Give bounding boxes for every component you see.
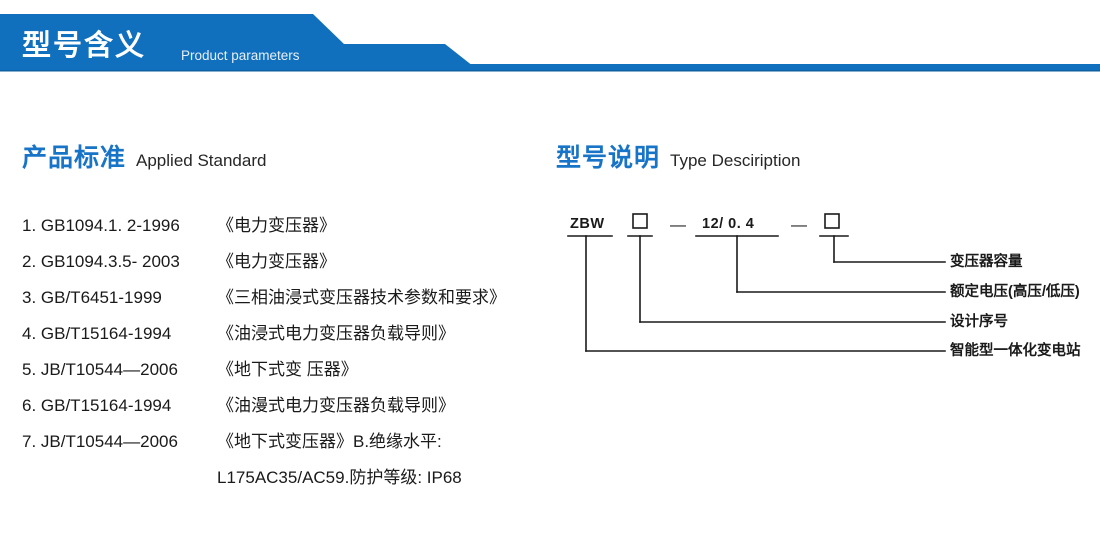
- leader-label-capacity: 变压器容量: [950, 255, 1023, 270]
- leader-label-rated-voltage: 额定电压(高压/低压): [950, 285, 1080, 300]
- section-heading-applied-standard-cn: 产品标准: [22, 144, 126, 172]
- standard-name: 《地下式变压器》B.绝缘水平:: [217, 427, 542, 452]
- standard-continuation-line: L175AC35/AC59.防护等级: IP68: [22, 463, 542, 499]
- page-root: 型号含义 Product parameters 产品标准Applied Stan…: [0, 0, 1100, 538]
- applied-standards-list: 1. GB1094.1. 2-1996 《电力变压器》 2. GB1094.3.…: [22, 211, 542, 499]
- section-heading-applied-standard-en: Applied Standard: [136, 151, 266, 170]
- section-heading-type-description-en: Type Desciription: [670, 151, 800, 170]
- standard-code: 7. JB/T10544—2006: [22, 432, 217, 452]
- standard-code: 3. GB/T6451-1999: [22, 288, 217, 308]
- standard-code: 4. GB/T15164-1994: [22, 324, 217, 344]
- standard-code: 5. JB/T10544—2006: [22, 360, 217, 380]
- type-designation-diagram: ZBW — 12/ 0. 4 — 变压器容量 额定电压(高压/低压) 设计序号 …: [556, 200, 1100, 375]
- leader-label-design-serial: 设计序号: [950, 315, 1008, 330]
- standard-row: 6. GB/T15164-1994 《油漫式电力变压器负载导则》: [22, 391, 542, 427]
- standard-row: 2. GB1094.3.5- 2003 《电力变压器》: [22, 247, 542, 283]
- type-token-dash-1: —: [670, 218, 686, 234]
- standard-name: 《油漫式电力变压器负载导则》: [217, 391, 542, 416]
- standard-name: 《电力变压器》: [217, 211, 542, 236]
- placeholder-box-design-serial: [633, 214, 647, 228]
- standard-code: 6. GB/T15164-1994: [22, 396, 217, 416]
- type-token-prefix: ZBW: [570, 217, 605, 232]
- standard-row: 7. JB/T10544—2006 《地下式变压器》B.绝缘水平:: [22, 427, 542, 463]
- section-heading-applied-standard: 产品标准Applied Standard: [22, 138, 266, 174]
- standard-row: 3. GB/T6451-1999 《三相油浸式变压器技术参数和要求》: [22, 283, 542, 319]
- banner-title-cn: 型号含义: [22, 32, 146, 61]
- section-heading-type-description-cn: 型号说明: [556, 144, 660, 172]
- standard-code: 2. GB1094.3.5- 2003: [22, 252, 217, 272]
- section-heading-type-description: 型号说明Type Desciription: [556, 138, 800, 174]
- placeholder-box-capacity: [825, 214, 839, 228]
- standard-code: 1. GB1094.1. 2-1996: [22, 216, 217, 236]
- leader-label-substation-type: 智能型一体化变电站: [950, 344, 1081, 359]
- page-header-banner: 型号含义 Product parameters: [0, 14, 1100, 72]
- standard-name: 《油浸式电力变压器负载导则》: [217, 319, 542, 344]
- standard-name: 《三相油浸式变压器技术参数和要求》: [217, 283, 542, 308]
- standard-name: 《地下式变 压器》: [217, 355, 542, 380]
- standard-row: 1. GB1094.1. 2-1996 《电力变压器》: [22, 211, 542, 247]
- type-token-dash-2: —: [791, 218, 807, 234]
- standard-row: 4. GB/T15164-1994 《油浸式电力变压器负载导则》: [22, 319, 542, 355]
- banner-title-en: Product parameters: [181, 48, 300, 63]
- standard-name: 《电力变压器》: [217, 247, 542, 272]
- type-token-voltage: 12/ 0. 4: [702, 217, 754, 232]
- standard-row: 5. JB/T10544—2006 《地下式变 压器》: [22, 355, 542, 391]
- banner-shape: [0, 14, 1100, 72]
